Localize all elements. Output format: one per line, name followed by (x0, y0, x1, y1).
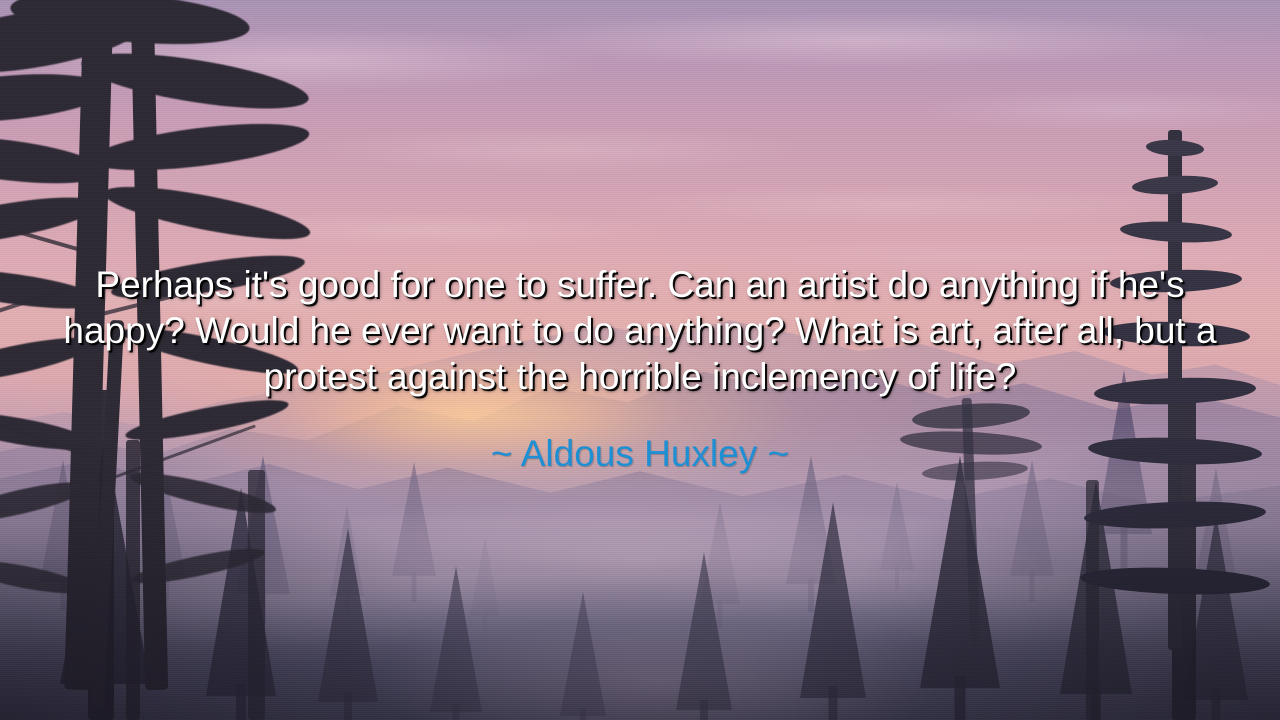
attribution-text: ~ Aldous Huxley ~ (36, 432, 1244, 476)
text-overlay: Perhaps it's good for one to suffer. Can… (0, 262, 1280, 476)
quote-text: Perhaps it's good for one to suffer. Can… (36, 262, 1244, 400)
quote-image: Perhaps it's good for one to suffer. Can… (0, 0, 1280, 720)
